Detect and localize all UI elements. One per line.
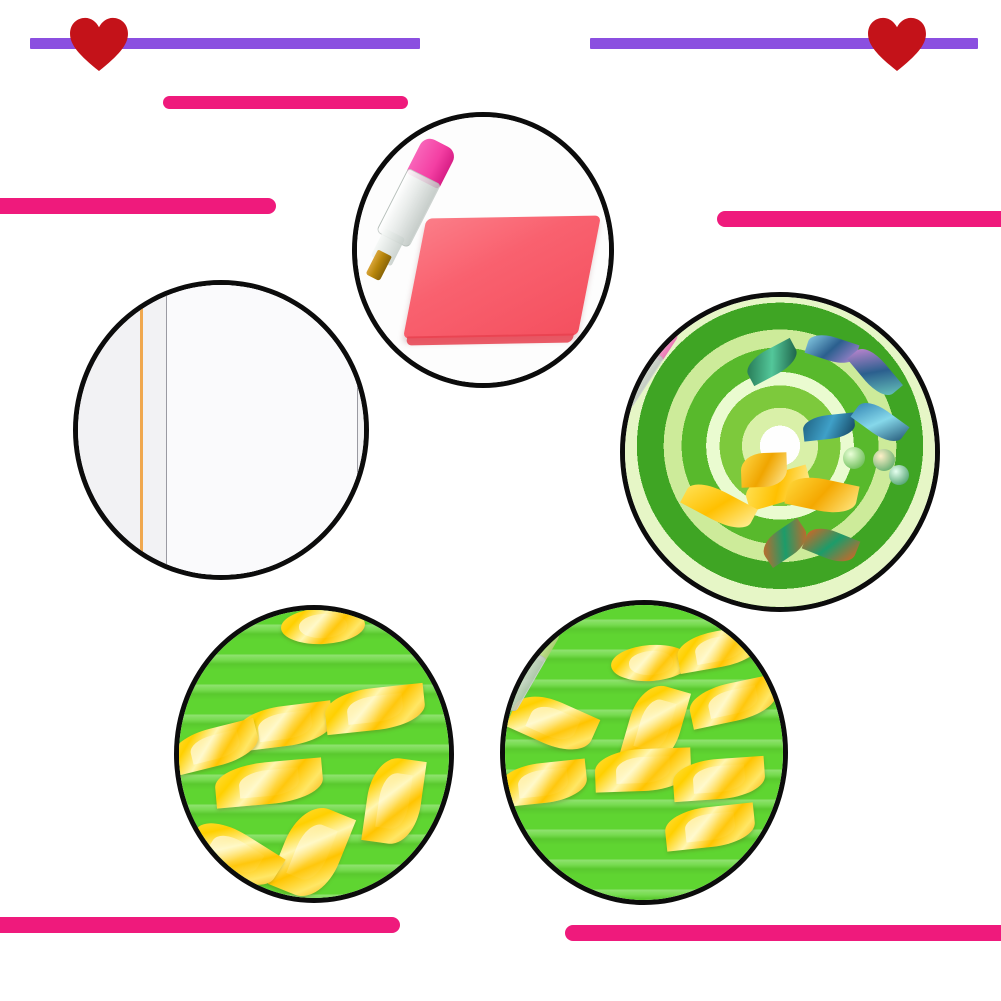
canvas-placement-scene [625,297,935,607]
step-1-label [163,96,408,109]
canvas-gem [843,447,865,469]
heart-icon-right [866,16,928,72]
step-4-label [565,925,1001,941]
pen-tip-icon [500,712,501,740]
step-3-label [0,917,400,933]
heart-icon-left [68,16,130,72]
step-2-photo-circle [73,280,369,580]
pen-gel-scene [357,117,609,383]
step-5-label [717,211,1001,227]
step-4-photo-circle [500,600,788,905]
step-3-photo-circle [174,605,454,903]
diamond-tray-scene [179,610,449,898]
color-chart-scene [78,285,364,575]
diamond-color-chart-table [166,280,358,580]
pen-pressing-scene [505,605,783,900]
pink-gel-square [403,215,601,338]
step-5-photo-circle [620,292,940,612]
paper-stripe-left [140,285,143,575]
canvas-gem [889,465,909,485]
step-1-photo-circle [352,112,614,388]
step-2-label [0,198,276,214]
infographic-canvas [0,0,1001,1001]
